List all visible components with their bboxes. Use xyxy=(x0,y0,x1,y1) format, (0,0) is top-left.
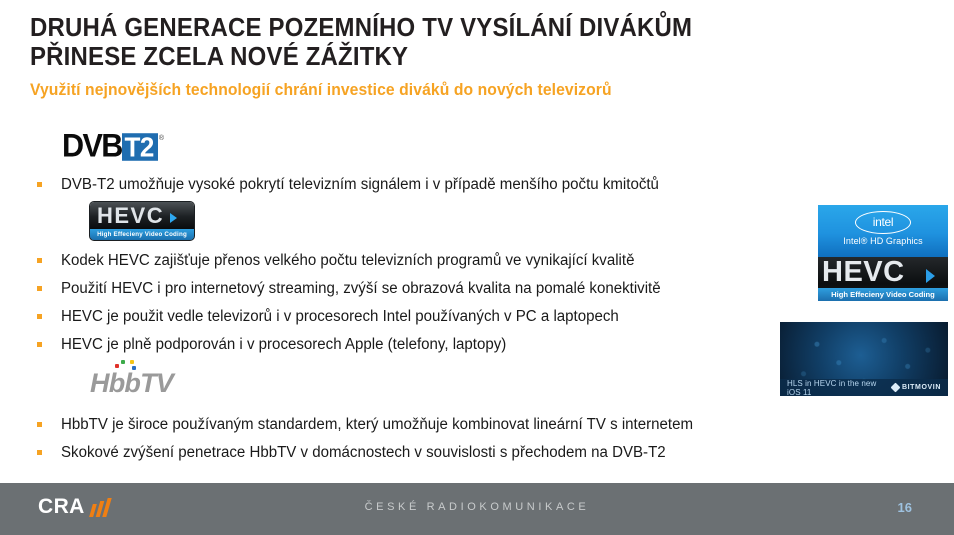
list-item-label: Kodek HEVC zajišťuje přenos velkého počt… xyxy=(61,248,634,273)
hevc-logo: HEVC High Effecieny Video Coding xyxy=(90,202,194,240)
list-item: Použití HEVC i pro internetový streaming… xyxy=(30,276,930,302)
bitmovin-logo-text: BITMOVIN xyxy=(902,384,941,391)
bitmovin-logo: BITMOVIN xyxy=(892,384,941,391)
list-item: HbbTV je široce používaným standardem, k… xyxy=(30,412,930,438)
dvb-t2-logo-dvb-text: DVB xyxy=(62,133,123,161)
hbbtv-logo: HbbTV xyxy=(90,360,210,400)
list-item-label: DVB-T2 umožňuje vysoké pokrytí televizní… xyxy=(61,172,659,197)
intel-hd-graphics-caption: Intel® HD Graphics xyxy=(818,236,948,246)
intel-hevc-word: HEVC xyxy=(822,255,905,289)
list-item: Kodek HEVC zajišťuje přenos velkého počt… xyxy=(30,248,930,274)
page-title: DRUHÁ GENERACE POZEMNÍHO TV VYSÍLÁNÍ DIV… xyxy=(30,14,857,72)
dot-yellow-icon xyxy=(130,360,134,364)
intel-hevc-image: intel Intel® HD Graphics HEVC High Effec… xyxy=(818,205,948,301)
intel-hevc-image-bottom: HEVC High Effecieny Video Coding xyxy=(818,257,948,301)
play-triangle-icon xyxy=(170,213,177,223)
hbbtv-logo-word: HbbTV xyxy=(90,368,173,398)
intel-hevc-tagline: High Effecieny Video Coding xyxy=(818,288,948,301)
page-subtitle: Využití nejnovějších technologií chrání … xyxy=(30,81,866,100)
play-triangle-icon xyxy=(926,269,935,283)
apple-hevc-image-caption-strip: HLS in HEVC in the new iOS 11 BITMOVIN xyxy=(780,379,948,396)
slide-footer: CRA ČESKÉ RADIOKOMUNIKACE 16 xyxy=(0,483,954,535)
bullet-marker-icon xyxy=(37,258,42,263)
list-item-label: HEVC je plně podporován i v procesorech … xyxy=(61,332,506,357)
hevc-logo-tagline: High Effecieny Video Coding xyxy=(90,229,194,240)
list-item-label: Skokové zvýšení penetrace HbbTV v domácn… xyxy=(61,440,666,465)
dvb-t2-logo-t2-badge: T2 xyxy=(122,133,158,161)
list-item: Skokové zvýšení penetrace HbbTV v domácn… xyxy=(30,440,930,466)
registered-trademark-icon: ® xyxy=(159,135,164,142)
page-number: 16 xyxy=(898,500,912,515)
apple-logo-icon xyxy=(833,326,895,386)
bullet-marker-icon xyxy=(37,286,42,291)
dvb-t2-logo: DVB T2 ® xyxy=(62,134,164,160)
list-item: DVB-T2 umožňuje vysoké pokrytí televizní… xyxy=(30,172,930,198)
footer-company-name: ČESKÉ RADIOKOMUNIKACE xyxy=(0,501,954,513)
apple-hevc-caption: HLS in HEVC in the new iOS 11 xyxy=(787,379,892,397)
apple-hevc-image: HLS in HEVC in the new iOS 11 BITMOVIN xyxy=(780,322,948,396)
intel-logo: intel xyxy=(855,211,911,234)
bullet-marker-icon xyxy=(37,422,42,427)
dvbt2-logo-row: DVB T2 ® xyxy=(30,130,930,172)
bullet-marker-icon xyxy=(37,450,42,455)
list-item-label: HbbTV je široce používaným standardem, k… xyxy=(61,412,693,437)
bitmovin-mark-icon xyxy=(891,383,901,393)
bullet-marker-icon xyxy=(37,342,42,347)
intel-hevc-image-top: intel Intel® HD Graphics xyxy=(818,205,948,257)
dot-green-icon xyxy=(121,360,125,364)
title-block: DRUHÁ GENERACE POZEMNÍHO TV VYSÍLÁNÍ DIV… xyxy=(30,14,910,100)
list-item-label: HEVC je použit vedle televizorů i v proc… xyxy=(61,304,619,329)
hevc-logo-word: HEVC xyxy=(97,203,164,229)
list-item-label: Použití HEVC i pro internetový streaming… xyxy=(61,276,661,301)
slide-body: DVB T2 ® DVB-T2 umožňuje vysoké pokrytí … xyxy=(30,130,930,468)
hevc-logo-row: HEVC High Effecieny Video Coding xyxy=(30,200,930,248)
bullet-marker-icon xyxy=(37,182,42,187)
bullet-marker-icon xyxy=(37,314,42,319)
